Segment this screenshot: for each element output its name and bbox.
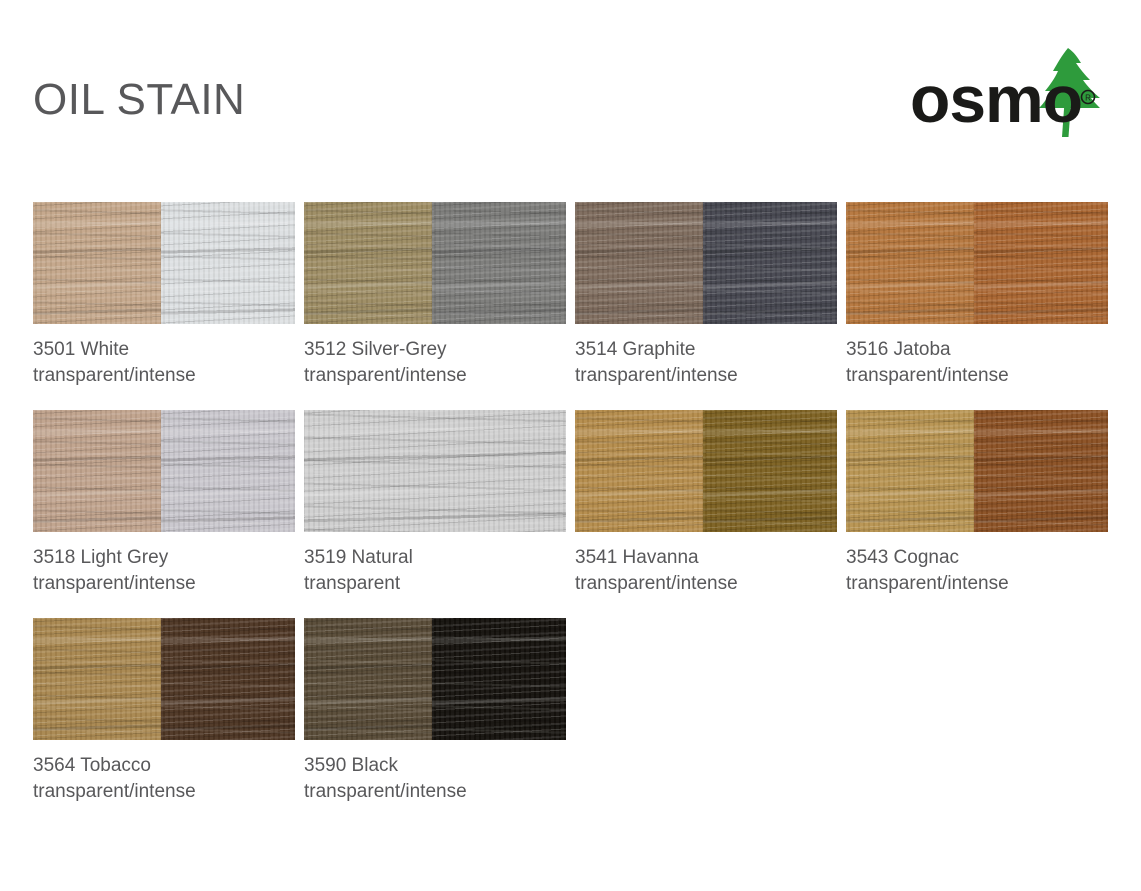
swatch-image	[304, 202, 566, 324]
swatch-card-empty	[575, 618, 837, 805]
wood-grain-texture	[33, 618, 161, 740]
wood-grain-texture	[703, 202, 837, 324]
swatch-caption: 3518 Light Grey transparent/intense	[33, 545, 295, 597]
wood-grain-texture	[33, 410, 161, 532]
swatch-image	[846, 202, 1108, 324]
swatch-label: 3512 Silver-Grey	[304, 337, 566, 363]
swatch-half-transparent	[304, 410, 566, 532]
swatch-half-transparent	[33, 618, 161, 740]
wood-grain-texture	[304, 202, 432, 324]
swatch-half-transparent	[575, 202, 703, 324]
swatch-half-intense	[974, 410, 1108, 532]
swatch-card-3501[interactable]: 3501 White transparent/intense	[33, 202, 295, 389]
swatch-card-3518[interactable]: 3518 Light Grey transparent/intense	[33, 410, 295, 597]
swatch-caption: 3564 Tobacco transparent/intense	[33, 753, 295, 805]
swatch-label: 3543 Cognac	[846, 545, 1108, 571]
swatch-half-intense	[161, 618, 295, 740]
wood-grain-texture	[304, 618, 432, 740]
swatch-image	[304, 618, 566, 740]
swatch-finish: transparent/intense	[33, 779, 295, 805]
wood-grain-texture	[575, 410, 703, 532]
page-header: OIL STAIN osmo R	[0, 0, 1141, 175]
swatch-half-intense	[974, 202, 1108, 324]
swatch-half-intense	[161, 202, 295, 324]
swatch-half-intense	[432, 618, 566, 740]
swatch-caption: 3501 White transparent/intense	[33, 337, 295, 389]
swatch-card-3519[interactable]: 3519 Natural transparent	[304, 410, 566, 597]
swatch-label: 3514 Graphite	[575, 337, 837, 363]
swatch-caption: 3590 Black transparent/intense	[304, 753, 566, 805]
wood-grain-texture	[161, 202, 295, 324]
swatch-image	[575, 410, 837, 532]
swatch-half-intense	[432, 202, 566, 324]
wood-grain-texture	[703, 410, 837, 532]
swatch-half-transparent	[33, 410, 161, 532]
swatch-caption: 3516 Jatoba transparent/intense	[846, 337, 1108, 389]
swatch-image	[846, 410, 1108, 532]
swatch-finish: transparent	[304, 571, 566, 597]
swatch-finish: transparent/intense	[304, 779, 566, 805]
swatch-image	[304, 410, 566, 532]
swatch-finish: transparent/intense	[304, 363, 566, 389]
swatch-label: 3519 Natural	[304, 545, 566, 571]
swatch-label: 3590 Black	[304, 753, 566, 779]
swatch-finish: transparent/intense	[846, 571, 1108, 597]
swatch-image	[33, 410, 295, 532]
swatch-caption: 3541 Havanna transparent/intense	[575, 545, 837, 597]
wood-grain-texture	[432, 202, 566, 324]
swatch-half-transparent	[846, 202, 974, 324]
swatch-card-empty	[846, 618, 1108, 805]
swatch-image	[33, 618, 295, 740]
swatch-label: 3541 Havanna	[575, 545, 837, 571]
swatch-row: 3518 Light Grey transparent/intense 3519…	[33, 410, 1108, 597]
swatch-half-intense	[161, 410, 295, 532]
swatch-label: 3516 Jatoba	[846, 337, 1108, 363]
swatch-grid: 3501 White transparent/intense 3512 Silv…	[33, 202, 1108, 826]
swatch-card-3564[interactable]: 3564 Tobacco transparent/intense	[33, 618, 295, 805]
wood-grain-texture	[974, 410, 1108, 532]
swatch-half-intense	[703, 202, 837, 324]
swatch-half-transparent	[304, 202, 432, 324]
swatch-finish: transparent/intense	[575, 571, 837, 597]
wood-grain-texture	[33, 202, 161, 324]
swatch-label: 3501 White	[33, 337, 295, 363]
swatch-card-3543[interactable]: 3543 Cognac transparent/intense	[846, 410, 1108, 597]
swatch-image	[33, 202, 295, 324]
swatch-label: 3518 Light Grey	[33, 545, 295, 571]
swatch-half-transparent	[575, 410, 703, 532]
swatch-card-3514[interactable]: 3514 Graphite transparent/intense	[575, 202, 837, 389]
swatch-row: 3501 White transparent/intense 3512 Silv…	[33, 202, 1108, 389]
wood-grain-texture	[846, 202, 974, 324]
swatch-image	[575, 202, 837, 324]
wood-grain-texture	[575, 202, 703, 324]
swatch-caption: 3543 Cognac transparent/intense	[846, 545, 1108, 597]
swatch-finish: transparent/intense	[33, 363, 295, 389]
swatch-finish: transparent/intense	[846, 363, 1108, 389]
svg-text:osmo: osmo	[910, 62, 1082, 136]
swatch-label: 3564 Tobacco	[33, 753, 295, 779]
wood-grain-texture	[846, 410, 974, 532]
page-title: OIL STAIN	[33, 78, 245, 122]
osmo-logo-svg: osmo R	[908, 40, 1108, 140]
wood-grain-texture	[432, 618, 566, 740]
wood-grain-texture	[161, 618, 295, 740]
swatch-half-transparent	[33, 202, 161, 324]
swatch-card-3512[interactable]: 3512 Silver-Grey transparent/intense	[304, 202, 566, 389]
swatch-card-3516[interactable]: 3516 Jatoba transparent/intense	[846, 202, 1108, 389]
swatch-half-intense	[703, 410, 837, 532]
swatch-finish: transparent/intense	[575, 363, 837, 389]
svg-text:R: R	[1085, 94, 1091, 103]
swatch-caption: 3519 Natural transparent	[304, 545, 566, 597]
wood-grain-texture	[974, 202, 1108, 324]
osmo-logo: osmo R	[908, 40, 1108, 140]
swatch-card-3590[interactable]: 3590 Black transparent/intense	[304, 618, 566, 805]
swatch-half-transparent	[846, 410, 974, 532]
wood-grain-texture	[161, 410, 295, 532]
swatch-card-3541[interactable]: 3541 Havanna transparent/intense	[575, 410, 837, 597]
swatch-row: 3564 Tobacco transparent/intense 3590 Bl…	[33, 618, 1108, 805]
swatch-caption: 3514 Graphite transparent/intense	[575, 337, 837, 389]
wood-grain-texture	[304, 410, 566, 532]
swatch-caption: 3512 Silver-Grey transparent/intense	[304, 337, 566, 389]
swatch-half-transparent	[304, 618, 432, 740]
swatch-finish: transparent/intense	[33, 571, 295, 597]
